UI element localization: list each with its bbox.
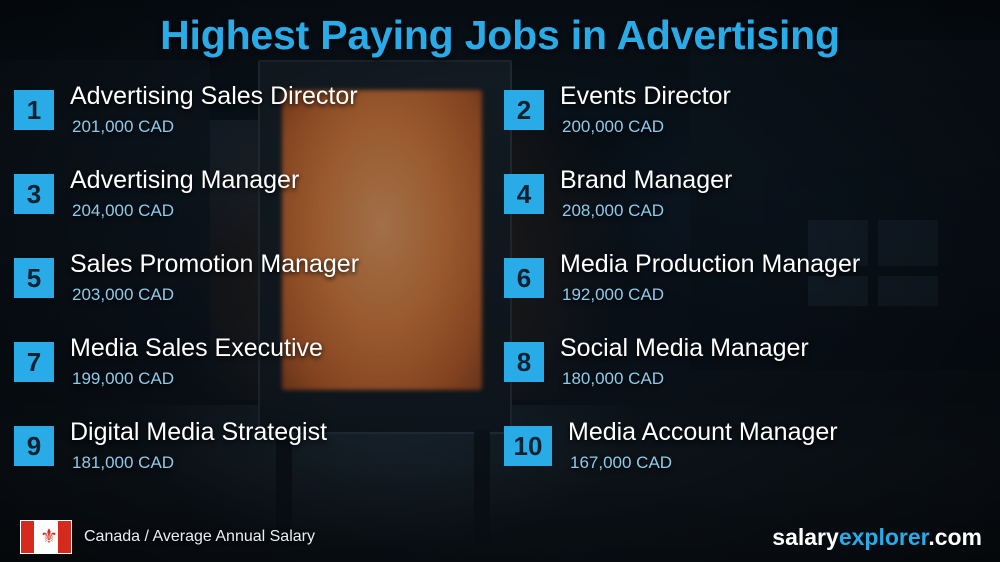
list-item: 4 Brand Manager 208,000 CAD [504, 168, 974, 252]
brand-part-salary: salary [772, 524, 839, 550]
job-title: Media Account Manager [568, 418, 838, 447]
job-salary: 201,000 CAD [72, 117, 174, 137]
job-list-column-right: 2 Events Director 200,000 CAD 4 Brand Ma… [504, 84, 974, 504]
maple-leaf-icon: ⚜ [40, 526, 54, 548]
job-title: Advertising Manager [70, 166, 299, 195]
rank-badge: 10 [504, 426, 552, 466]
job-title: Social Media Manager [560, 334, 809, 363]
job-salary-list: 1 Advertising Sales Director 201,000 CAD… [0, 84, 1000, 504]
flag-bar-right [58, 521, 71, 553]
page-title: Highest Paying Jobs in Advertising [0, 12, 1000, 59]
job-salary: 181,000 CAD [72, 453, 174, 473]
list-item: 3 Advertising Manager 204,000 CAD [14, 168, 484, 252]
job-list-column-left: 1 Advertising Sales Director 201,000 CAD… [14, 84, 484, 504]
rank-badge: 6 [504, 258, 544, 298]
rank-badge: 1 [14, 90, 54, 130]
list-item: 6 Media Production Manager 192,000 CAD [504, 252, 974, 336]
job-salary: 208,000 CAD [562, 201, 664, 221]
rank-badge: 2 [504, 90, 544, 130]
infographic-root: Highest Paying Jobs in Advertising 1 Adv… [0, 0, 1000, 562]
job-title: Digital Media Strategist [70, 418, 327, 447]
job-salary: 192,000 CAD [562, 285, 664, 305]
job-title: Brand Manager [560, 166, 732, 195]
job-salary: 199,000 CAD [72, 369, 174, 389]
list-item: 5 Sales Promotion Manager 203,000 CAD [14, 252, 484, 336]
job-salary: 180,000 CAD [562, 369, 664, 389]
canada-flag-icon: ⚜ [20, 520, 72, 554]
job-salary: 204,000 CAD [72, 201, 174, 221]
footer: ⚜ Canada / Average Annual Salary salarye… [0, 510, 1000, 562]
job-title: Media Sales Executive [70, 334, 323, 363]
list-item: 2 Events Director 200,000 CAD [504, 84, 974, 168]
rank-badge: 8 [504, 342, 544, 382]
rank-badge: 9 [14, 426, 54, 466]
brand-logo[interactable]: salaryexplorer.com [772, 524, 982, 551]
rank-badge: 5 [14, 258, 54, 298]
brand-part-domain: .com [928, 524, 982, 550]
country-salary-label: Canada / Average Annual Salary [84, 528, 315, 546]
rank-badge: 4 [504, 174, 544, 214]
rank-badge: 7 [14, 342, 54, 382]
job-title: Advertising Sales Director [70, 82, 358, 111]
list-item: 9 Digital Media Strategist 181,000 CAD [14, 420, 484, 504]
list-item: 1 Advertising Sales Director 201,000 CAD [14, 84, 484, 168]
brand-part-explorer: explorer [839, 524, 929, 550]
job-title: Media Production Manager [560, 250, 860, 279]
list-item: 10 Media Account Manager 167,000 CAD [504, 420, 974, 504]
job-salary: 200,000 CAD [562, 117, 664, 137]
rank-badge: 3 [14, 174, 54, 214]
job-salary: 167,000 CAD [570, 453, 672, 473]
job-salary: 203,000 CAD [72, 285, 174, 305]
job-title: Sales Promotion Manager [70, 250, 359, 279]
list-item: 7 Media Sales Executive 199,000 CAD [14, 336, 484, 420]
flag-bar-left [21, 521, 34, 553]
list-item: 8 Social Media Manager 180,000 CAD [504, 336, 974, 420]
job-title: Events Director [560, 82, 731, 111]
